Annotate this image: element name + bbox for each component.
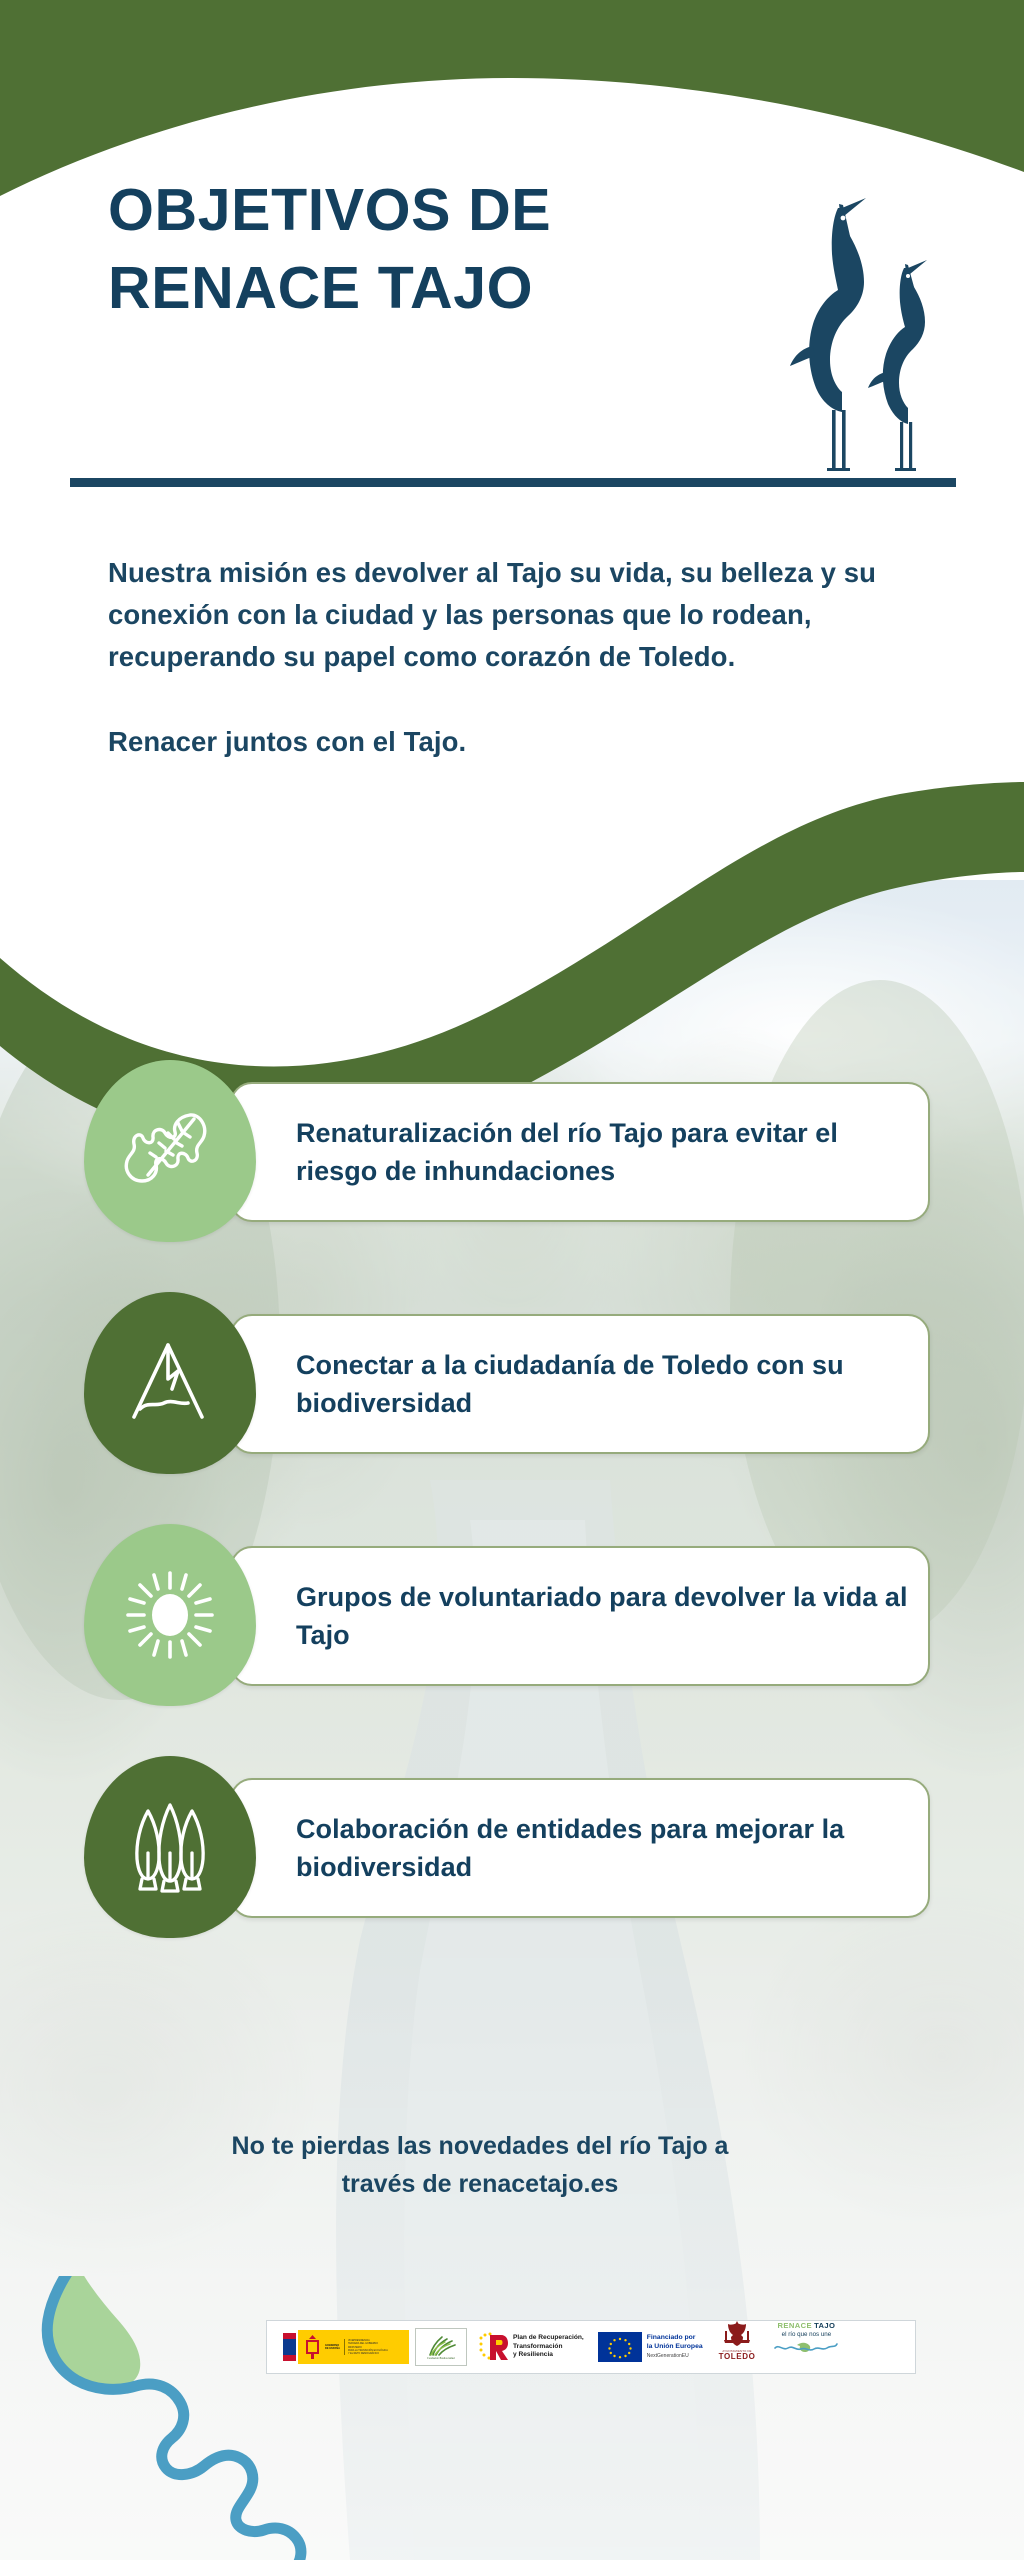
toledo-name: TOLEDO	[719, 2353, 756, 2362]
prtr-mark-icon	[477, 2331, 509, 2363]
renace-word: RENACE	[777, 2321, 811, 2330]
mountain-icon	[118, 1331, 222, 1435]
plan-recuperacion-logo: Plan de Recuperación, Transformación y R…	[477, 2321, 584, 2373]
objective-badge-4	[84, 1756, 256, 1938]
river-decoration	[0, 2276, 410, 2560]
objective-panel-3: Grupos de voluntariado para devolver la …	[230, 1546, 930, 1686]
cta-line-1: No te pierdas las novedades del río Tajo…	[0, 2128, 960, 2166]
leaf-icon	[118, 1099, 222, 1203]
objective-panel-1: Renaturalización del río Tajo para evita…	[230, 1082, 930, 1222]
heron-birds-icon	[780, 196, 970, 486]
ministerio-label: VICEPRESIDENCIA TERCERA DEL GOBIERNO MIN…	[344, 2339, 388, 2355]
gobierno-de-espana-logo: GOBIERNO DE ESPAÑA VICEPRESIDENCIA TERCE…	[275, 2321, 409, 2373]
page-title: OBJETIVOS DE RENACE TAJO	[108, 172, 808, 328]
objective-panel-2: Conectar a la ciudadanía de Toledo con s…	[230, 1314, 930, 1454]
ayuntamiento-toledo-logo: AYUNTAMIENTO DE TOLEDO	[719, 2321, 756, 2373]
objectives-list: Renaturalización del río Tajo para evita…	[0, 1060, 1024, 1988]
renace-tajo-logo: RENACE TAJO el río que nos une	[773, 2321, 839, 2373]
fundacion-caption: Fundación Biodiversidad	[427, 2357, 454, 2360]
eu-flag-icon	[598, 2332, 642, 2362]
objective-card-ciudadania[interactable]: Conectar a la ciudadanía de Toledo con s…	[0, 1292, 1024, 1468]
grass-icon	[424, 2334, 458, 2356]
objective-text-2: Conectar a la ciudadanía de Toledo con s…	[232, 1346, 928, 1423]
spain-crest-icon	[303, 2334, 322, 2360]
title-underline	[70, 478, 956, 487]
sun-icon	[118, 1563, 222, 1667]
objective-card-renaturalizacion[interactable]: Renaturalización del río Tajo para evita…	[0, 1060, 1024, 1236]
objective-panel-4: Colaboración de entidades para mejorar l…	[230, 1778, 930, 1918]
mission-tagline: Renacer juntos con el Tajo.	[108, 721, 938, 763]
renace-river-mark-icon	[773, 2339, 839, 2355]
objective-badge-1	[84, 1060, 256, 1242]
objective-text-3: Grupos de voluntariado para devolver la …	[232, 1578, 928, 1655]
objective-badge-3	[84, 1524, 256, 1706]
title-line-2: RENACE TAJO	[108, 250, 808, 328]
eu-label: Financiado por la Unión Europea NextGene…	[647, 2334, 703, 2359]
toledo-crest-icon	[722, 2321, 752, 2349]
funding-logo-bar: GOBIERNO DE ESPAÑA VICEPRESIDENCIA TERCE…	[266, 2320, 916, 2374]
objective-text-1: Renaturalización del río Tajo para evita…	[232, 1114, 928, 1191]
union-europea-logo: Financiado por la Unión Europea NextGene…	[598, 2321, 703, 2373]
renace-tajo-tagline: el río que nos une	[782, 2331, 832, 2339]
mission-statement: Nuestra misión es devolver al Tajo su vi…	[108, 552, 938, 763]
gobierno-label: GOBIERNO DE ESPAÑA	[325, 2344, 340, 2351]
prtr-label: Plan de Recuperación, Transformación y R…	[513, 2334, 584, 2360]
infographic-poster: OBJETIVOS DE RENACE TAJO	[0, 0, 1024, 2560]
cypress-trees-icon	[118, 1795, 222, 1899]
call-to-action: No te pierdas las novedades del río Tajo…	[0, 2128, 1024, 2203]
objective-card-voluntariado[interactable]: Grupos de voluntariado para devolver la …	[0, 1524, 1024, 1700]
renace-tajo-wordmark: RENACE TAJO	[777, 2321, 835, 2330]
fundacion-biodiversidad-logo: Fundación Biodiversidad	[409, 2321, 467, 2373]
tajo-word: TAJO	[814, 2321, 835, 2330]
objective-badge-2	[84, 1292, 256, 1474]
cta-line-2: través de renacetajo.es	[0, 2166, 960, 2204]
objective-text-4: Colaboración de entidades para mejorar l…	[232, 1810, 928, 1887]
objective-card-entidades[interactable]: Colaboración de entidades para mejorar l…	[0, 1756, 1024, 1932]
title-line-1: OBJETIVOS DE	[108, 172, 808, 250]
mission-paragraph: Nuestra misión es devolver al Tajo su vi…	[108, 552, 938, 677]
